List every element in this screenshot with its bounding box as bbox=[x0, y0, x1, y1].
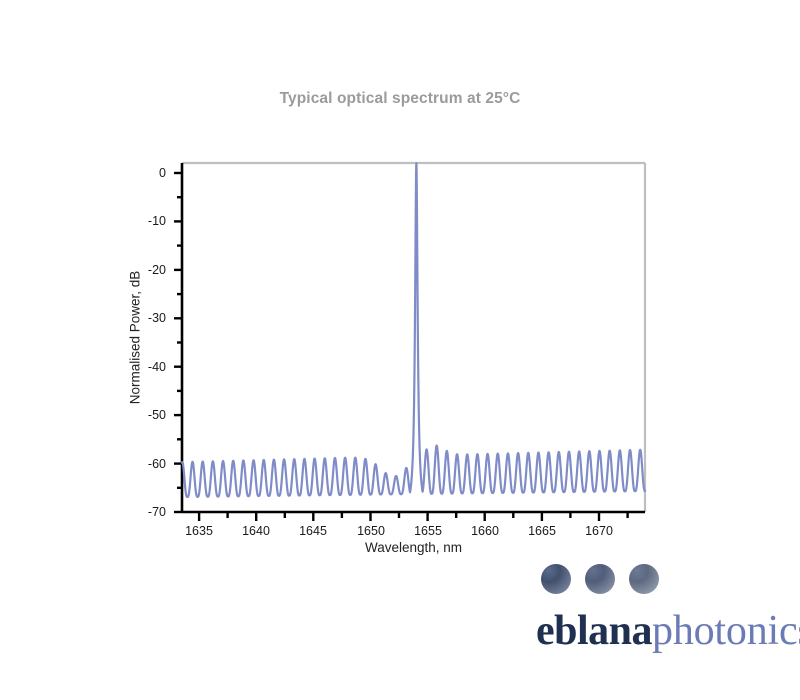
logo-dot-3-icon bbox=[629, 564, 659, 594]
eblana-photonics-logo: eblanaphotonics bbox=[536, 560, 786, 660]
logo-dot-2-icon bbox=[585, 564, 615, 594]
logo-wordmark: eblanaphotonics bbox=[536, 610, 800, 652]
y-tick-label: -70 bbox=[126, 505, 166, 519]
x-tick-label: 1655 bbox=[414, 524, 442, 538]
x-axis-title: Wavelength, nm bbox=[182, 540, 645, 555]
spectrum-trace bbox=[182, 163, 645, 497]
x-tick-label: 1665 bbox=[528, 524, 556, 538]
logo-dots-group bbox=[541, 564, 659, 594]
x-tick-label: 1660 bbox=[471, 524, 499, 538]
logo-dot-1-icon bbox=[541, 564, 571, 594]
y-axis bbox=[174, 163, 182, 512]
x-axis bbox=[182, 512, 645, 521]
y-axis-title: Normalised Power, dB bbox=[128, 198, 143, 478]
logo-word-primary: eblana bbox=[536, 608, 652, 654]
x-tick-label: 1650 bbox=[357, 524, 385, 538]
x-tick-label: 1640 bbox=[242, 524, 270, 538]
x-tick-label: 1670 bbox=[585, 524, 613, 538]
x-tick-label: 1635 bbox=[185, 524, 213, 538]
y-tick-label: 0 bbox=[126, 166, 166, 180]
logo-word-secondary: photonics bbox=[652, 608, 800, 654]
x-tick-label: 1645 bbox=[299, 524, 327, 538]
